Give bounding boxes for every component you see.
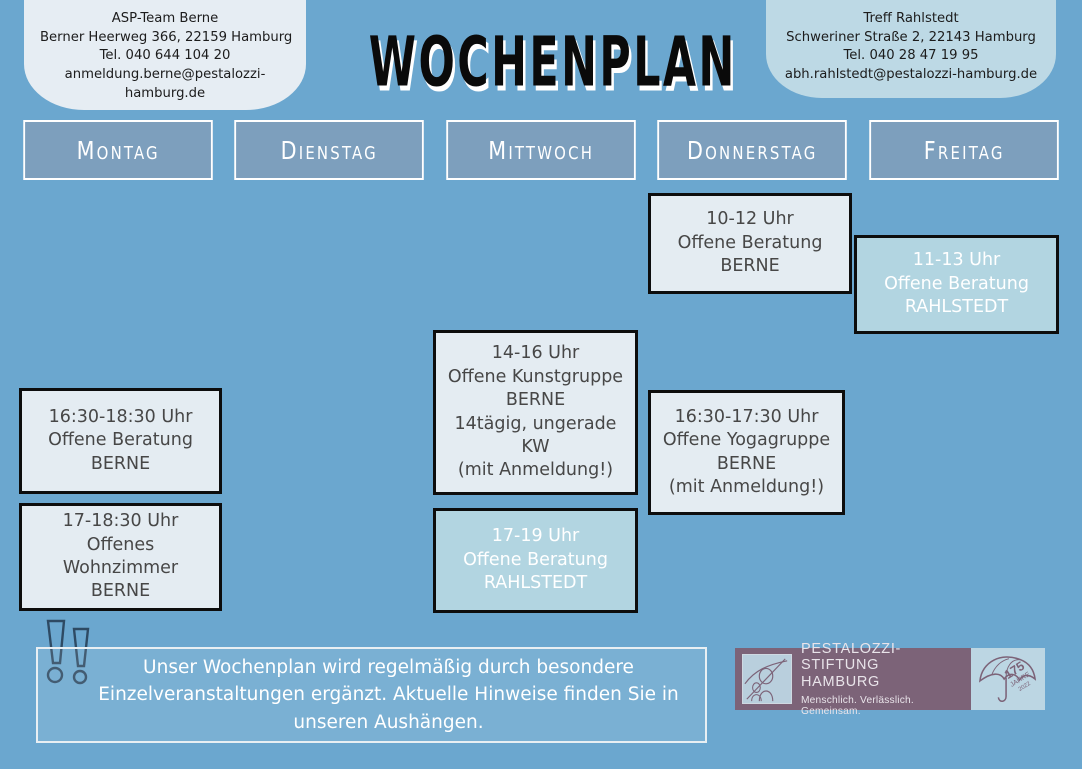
notice-text: Unser Wochenplan wird regelmäßig durch b… xyxy=(98,654,679,736)
event-line: KW xyxy=(521,436,549,459)
event-line: BERNE xyxy=(717,453,776,476)
pestalozzi-logo: PESTALOZZI-STIFTUNG HAMBURG Menschlich. … xyxy=(735,648,1045,710)
event-card: 16:30-18:30 Uhr Offene Beratung BERNE xyxy=(19,388,222,494)
logo-emblem-icon xyxy=(742,654,792,704)
event-line: BERNE xyxy=(91,580,150,603)
event-card: 16:30-17:30 Uhr Offene Yogagruppe BERNE … xyxy=(648,390,845,515)
logo-name-line2: HAMBURG xyxy=(801,674,971,691)
event-line: Offene Beratung xyxy=(463,549,608,572)
event-line: 17-19 Uhr xyxy=(492,525,580,548)
umbrella-icon: 175 JAHRE 2022 xyxy=(973,650,1043,708)
event-line: RAHLSTEDT xyxy=(484,572,587,595)
event-card: 17-18:30 Uhr Offenes Wohnzimmer BERNE xyxy=(19,503,222,611)
event-line: RAHLSTEDT xyxy=(905,296,1008,319)
event-line: (mit Anmeldung!) xyxy=(458,459,613,482)
event-line: 16:30-17:30 Uhr xyxy=(675,406,819,429)
event-line: Offene Kunstgruppe xyxy=(448,366,623,389)
event-line: BERNE xyxy=(720,255,779,278)
event-line: 16:30-18:30 Uhr xyxy=(49,406,193,429)
event-line: 17-18:30 Uhr xyxy=(63,510,179,533)
event-card: 10-12 Uhr Offene Beratung BERNE xyxy=(648,193,852,294)
event-line: Offene Yogagruppe xyxy=(663,429,830,452)
event-line: Wohnzimmer xyxy=(63,557,178,580)
anniversary-seal: 175 JAHRE 2022 xyxy=(971,648,1045,710)
logo-name-line1: PESTALOZZI-STIFTUNG xyxy=(801,641,971,674)
event-line: (mit Anmeldung!) xyxy=(669,476,824,499)
logo-tagline: Menschlich. Verlässlich. Gemeinsam. xyxy=(801,695,971,717)
event-card: 11-13 Uhr Offene Beratung RAHLSTEDT xyxy=(854,235,1059,334)
event-line: 14-16 Uhr xyxy=(492,342,580,365)
event-line: BERNE xyxy=(506,389,565,412)
event-card: 14-16 Uhr Offene Kunstgruppe BERNE 14täg… xyxy=(433,330,638,495)
logo-text-block: PESTALOZZI-STIFTUNG HAMBURG Menschlich. … xyxy=(801,641,971,718)
event-line: Offene Beratung xyxy=(884,273,1029,296)
event-line: Offene Beratung xyxy=(678,232,823,255)
event-line: 14tägig, ungerade xyxy=(455,413,617,436)
event-line: 11-13 Uhr xyxy=(913,249,1001,272)
notice-banner: Unser Wochenplan wird regelmäßig durch b… xyxy=(36,647,707,743)
event-line: BERNE xyxy=(91,453,150,476)
event-line: Offenes xyxy=(87,534,155,557)
event-line: 10-12 Uhr xyxy=(706,208,794,231)
logo-main-bar: PESTALOZZI-STIFTUNG HAMBURG Menschlich. … xyxy=(735,648,971,710)
event-card: 17-19 Uhr Offene Beratung RAHLSTEDT xyxy=(433,508,638,613)
event-line: Offene Beratung xyxy=(48,429,193,452)
